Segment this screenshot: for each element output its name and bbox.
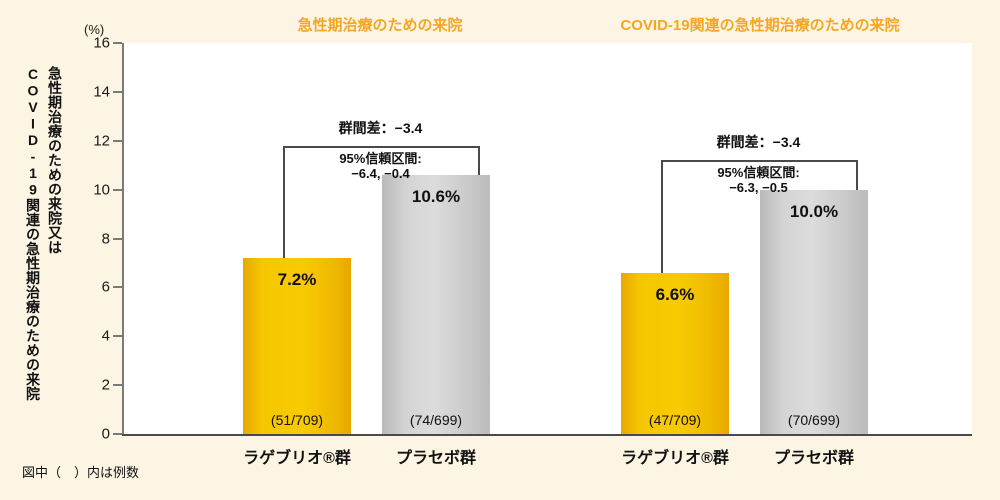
x-category-label: プラセボ群 [362,444,510,468]
y-tick-label: 2 [82,377,110,394]
y-axis-title-line-1: 急性期治療のための来院又は [48,66,62,255]
y-tick-mark [113,433,122,435]
y-tick-label: 10 [82,181,110,198]
x-category-label: ラゲブリオ®群 [601,444,749,468]
y-axis-line [122,43,124,435]
y-tick-label: 4 [82,328,110,345]
y-tick-mark [113,384,122,386]
y-tick-mark [113,42,122,44]
annotation-ci-label: 95%信頼区間:−6.4, −0.4 [283,152,478,182]
bar-count-label: (51/709) [243,412,351,428]
y-tick-label: 6 [82,279,110,296]
x-category-label: プラセボ群 [740,444,888,468]
annotation-ci-title: 95%信頼区間: [661,166,856,181]
annotation-bracket-leg-right [856,160,858,190]
bar-treatment: 6.6%(47/709) [621,273,729,434]
y-tick-mark [113,140,122,142]
bar-count-label: (47/709) [621,412,729,428]
y-axis-title: 急性期治療のための来院又は COVID-19関連の急性期治療のための来院 [18,66,76,446]
y-tick-mark [113,91,122,93]
y-tick-mark [113,335,122,337]
annotation-bracket-top [661,160,856,162]
x-axis-line [122,434,972,436]
bar-value-label: 6.6% [621,285,729,305]
annotation-difference-label: 群間差：−3.4 [283,118,478,138]
figure-footnote: 図中（ ）内は例数 [22,462,139,481]
bar-treatment: 7.2%(51/709) [243,258,351,434]
y-tick-mark [113,238,122,240]
bar-count-label: (70/699) [760,412,868,428]
y-tick-label: 16 [82,35,110,52]
y-tick-label: 14 [82,83,110,100]
y-tick-label: 0 [82,426,110,443]
annotation-ci-label: 95%信頼区間:−6.3, −0.5 [661,166,856,196]
panel-title-left: 急性期治療のための来院 [200,14,560,35]
annotation-bracket-leg-right [478,146,480,175]
bar-value-label: 10.6% [382,187,490,207]
bar-count-label: (74/699) [382,412,490,428]
annotation-bracket-top [283,146,478,148]
bar-placebo: 10.6%(74/699) [382,175,490,434]
bar-placebo: 10.0%(70/699) [760,190,868,434]
x-category-label: ラゲブリオ®群 [223,444,371,468]
panel-title-right: COVID-19関連の急性期治療のための来院 [545,14,975,35]
annotation-ci-values: −6.3, −0.5 [661,181,856,196]
y-tick-mark [113,189,122,191]
bar-value-label: 7.2% [243,270,351,290]
annotation-ci-title: 95%信頼区間: [283,152,478,167]
bar-value-label: 10.0% [760,202,868,222]
chart-figure: 急性期治療のための来院 COVID-19関連の急性期治療のための来院 (%) 急… [0,0,1000,500]
y-tick-label: 8 [82,230,110,247]
y-axis-title-line-2: COVID-19関連の急性期治療のための来院 [26,66,40,401]
annotation-ci-values: −6.4, −0.4 [283,167,478,182]
annotation-difference-label: 群間差：−3.4 [661,132,856,152]
y-tick-mark [113,286,122,288]
y-tick-label: 12 [82,132,110,149]
